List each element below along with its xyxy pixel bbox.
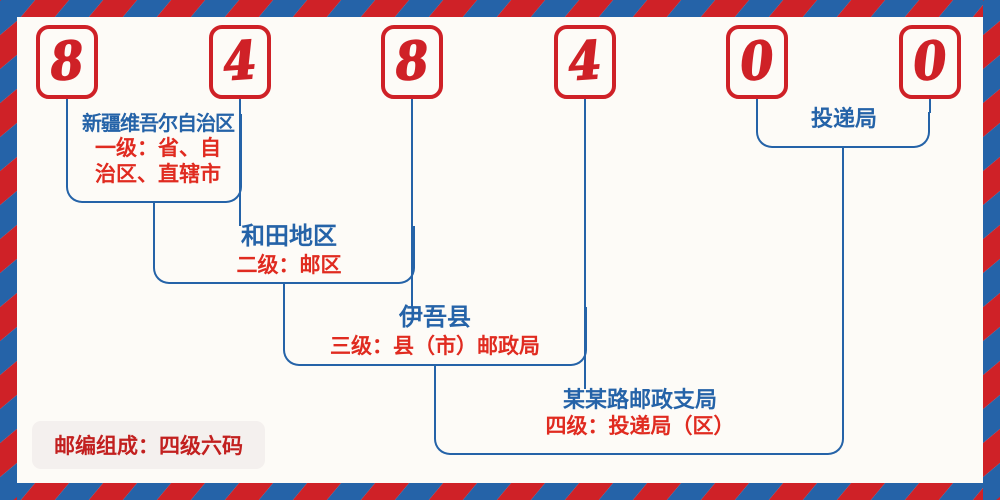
- label-level-1-title: 新疆维吾尔自治区: [62, 113, 254, 136]
- label-level-2: 和田地区 二级：邮区: [160, 224, 418, 279]
- label-delivery-office: 投递局: [760, 106, 928, 132]
- postcode-digit-1: 8: [49, 35, 86, 89]
- bracket-stem-level-3: [434, 366, 436, 389]
- label-level-2-title: 和田地区: [160, 224, 418, 252]
- postcode-digit-box-3: 8: [381, 25, 443, 99]
- label-level-4-title: 某某路邮政支局: [438, 387, 842, 413]
- stem-digit-6: [929, 99, 931, 113]
- label-level-3-title: 伊吾县: [285, 305, 585, 333]
- postcode-digit-box-1: 8: [36, 25, 98, 99]
- label-level-1-subtitle-line2: 治区、直辖市: [62, 162, 254, 188]
- stem-digit-5: [756, 99, 758, 113]
- airmail-border-right: [983, 0, 1000, 500]
- label-level-4: 某某路邮政支局 四级：投递局（区）: [438, 387, 842, 441]
- legend-postcode-composition: 邮编组成：四级六码: [32, 421, 265, 469]
- bracket-stem-level-2: [283, 284, 285, 307]
- postcode-digit-2: 4: [222, 35, 259, 89]
- postcode-digit-box-4: 4: [554, 25, 616, 99]
- airmail-border-top: [0, 0, 1000, 17]
- label-delivery-office-title: 投递局: [760, 106, 928, 132]
- postcode-digit-6: 0: [912, 35, 949, 89]
- label-level-4-subtitle: 四级：投递局（区）: [438, 413, 842, 441]
- postcode-digit-box-6: 0: [899, 25, 961, 99]
- postcode-digit-3: 8: [394, 35, 431, 89]
- label-level-1: 新疆维吾尔自治区 一级：省、自 治区、直辖市: [62, 113, 254, 189]
- bracket-stem-level-1: [153, 203, 155, 226]
- label-level-3-subtitle: 三级：县（市）邮政局: [285, 333, 585, 360]
- postcode-digit-5: 0: [739, 35, 776, 89]
- postcode-digit-box-2: 4: [209, 25, 271, 99]
- label-level-3: 伊吾县 三级：县（市）邮政局: [285, 305, 585, 360]
- label-level-2-subtitle: 二级：邮区: [160, 252, 418, 279]
- postcode-diagram: 8 4 8 4 0 0 投递局 新疆维吾尔自治区 一级：省、自 治区、直辖市 和…: [0, 0, 1000, 500]
- postcode-digit-box-5: 0: [726, 25, 788, 99]
- label-level-1-subtitle-line1: 一级：省、自: [62, 136, 254, 162]
- airmail-border-left: [0, 0, 17, 500]
- airmail-border-bottom: [0, 483, 1000, 500]
- postcode-digit-4: 4: [567, 35, 604, 89]
